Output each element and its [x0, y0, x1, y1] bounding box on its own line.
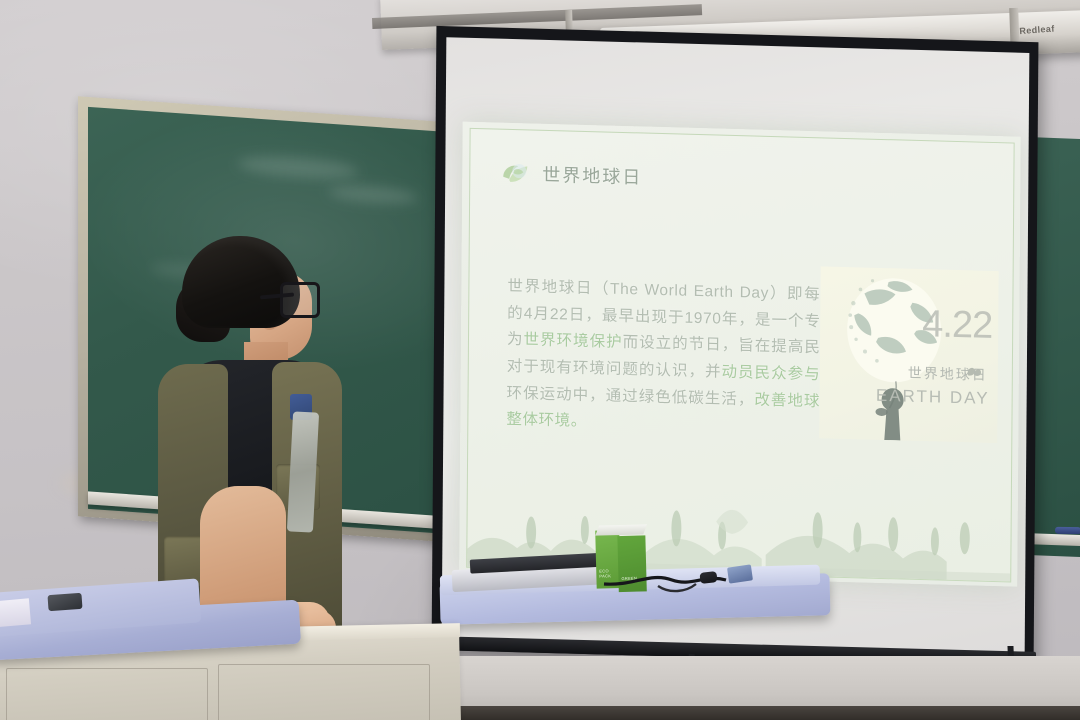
- cable-ferrite: [699, 571, 717, 584]
- slide-body-text: 世界地球日（The World Earth Day）即每年的4月22日，最早出现…: [506, 274, 837, 443]
- podium-panel: [218, 664, 430, 720]
- slide-body-highlight: 世界环境保护: [523, 332, 622, 352]
- slide-title: 世界地球日: [542, 161, 642, 190]
- poster-caption-en: EARTH DAY: [876, 386, 990, 409]
- poster-date: 4.22: [922, 303, 992, 348]
- slide-inner-border: 世界地球日 世界地球日（The World Earth Day）即每年的4月22…: [466, 128, 1014, 583]
- classroom-photo-scene: Redleaf: [0, 0, 1080, 720]
- smartphone[interactable]: [47, 593, 82, 611]
- earth-balloon-poster: 4.22 世界地球日 EARTH DAY: [819, 266, 998, 443]
- chalk-dust: [238, 153, 358, 181]
- podium-panel: [6, 668, 208, 720]
- poster-caption-cn: 世界地球日: [908, 363, 988, 385]
- paper-sheet[interactable]: [0, 598, 31, 627]
- baseboard: [380, 706, 1080, 720]
- glasses-lens: [280, 282, 320, 318]
- earth-leaf-icon: [500, 160, 530, 187]
- vga-connector[interactable]: [727, 564, 753, 583]
- slide-title-row: 世界地球日: [500, 160, 642, 190]
- presentation-slide: 世界地球日 世界地球日（The World Earth Day）即每年的4月22…: [459, 122, 1021, 587]
- slide-body-highlight: 动员民众参与: [721, 364, 820, 384]
- chalk-dust: [328, 184, 418, 206]
- box-top: [595, 524, 647, 535]
- blue-marker: [1055, 527, 1080, 534]
